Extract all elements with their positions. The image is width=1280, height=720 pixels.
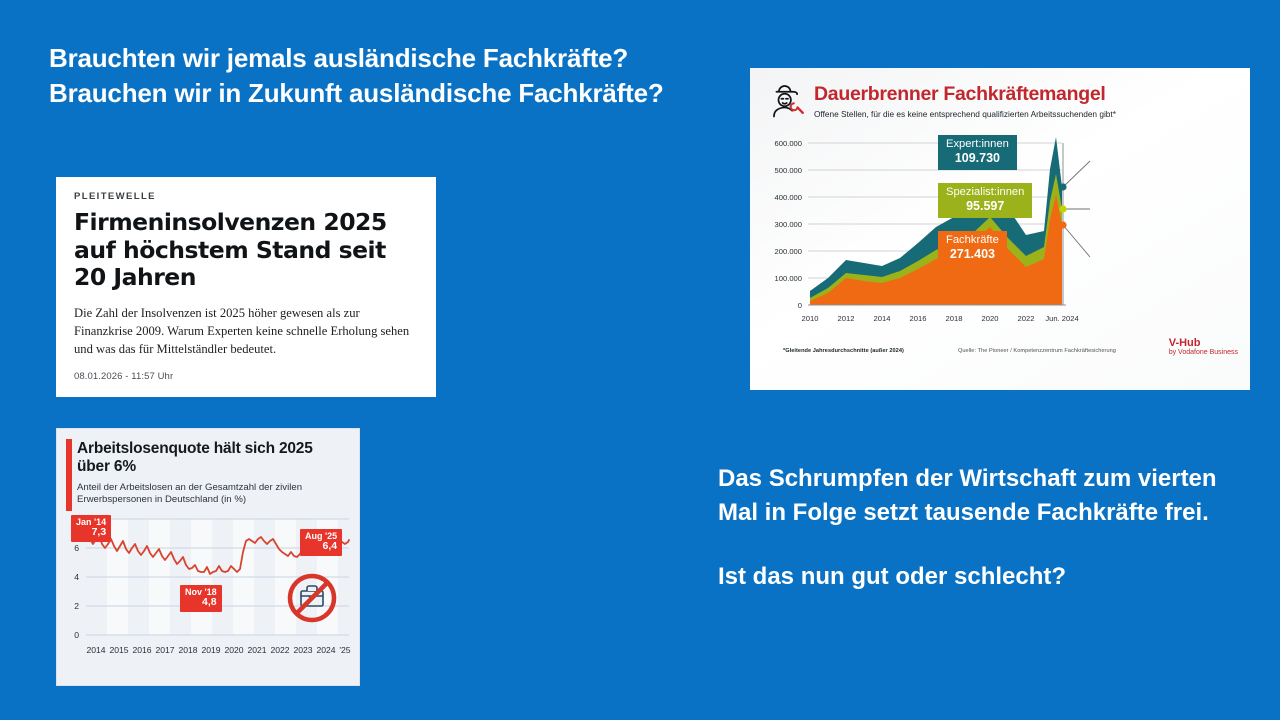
svg-text:200.000: 200.000: [775, 247, 802, 256]
svg-text:2016: 2016: [132, 645, 151, 655]
svg-text:500.000: 500.000: [775, 166, 802, 175]
svg-text:2020: 2020: [982, 314, 999, 323]
accent-bar: [66, 439, 72, 511]
svg-text:600.000: 600.000: [775, 139, 802, 148]
unemployment-card-header: Arbeitslosenquote hält sich 2025 über 6%…: [57, 429, 359, 513]
svg-text:2019: 2019: [201, 645, 220, 655]
svg-text:2014: 2014: [86, 645, 105, 655]
news-timestamp: 08.01.2026 - 11:57 Uhr: [74, 371, 418, 382]
shortage-subtitle: Offene Stellen, für die es keine entspre…: [814, 110, 1116, 120]
marker-expertinnen: [1059, 184, 1066, 191]
slide-body-text: Das Schrumpfen der Wirtschaft zum vierte…: [718, 462, 1238, 594]
callout-label: Fachkräfte: [946, 234, 999, 246]
vhub-logo: V-Hub by Vodafone Business: [1169, 337, 1238, 356]
slide-headline: Brauchten wir jemals ausländische Fachkr…: [49, 41, 749, 110]
body-paragraph-1: Das Schrumpfen der Wirtschaft zum vierte…: [718, 462, 1238, 530]
svg-text:2024: 2024: [316, 645, 335, 655]
news-kicker: PLEITEWELLE: [74, 191, 418, 202]
svg-text:4: 4: [74, 572, 79, 582]
svg-text:2018: 2018: [178, 645, 197, 655]
marker-spezialistinnen: [1059, 206, 1066, 213]
marker-fachkraefte: [1059, 222, 1066, 229]
vhub-logo-tagline: by Vodafone Business: [1169, 349, 1238, 356]
callout-connectors: [1063, 161, 1090, 257]
svg-text:Jun. 2024: Jun. 2024: [1045, 314, 1078, 323]
svg-text:2012: 2012: [838, 314, 855, 323]
svg-text:2021: 2021: [247, 645, 266, 655]
worker-with-wrench-icon: [768, 81, 808, 119]
svg-text:2018: 2018: [946, 314, 963, 323]
annotation-jan-2014: Jan '14 7,3: [71, 515, 111, 542]
annotation-value: 4,8: [185, 597, 217, 609]
svg-text:400.000: 400.000: [775, 193, 802, 202]
svg-text:2: 2: [74, 601, 79, 611]
svg-text:2010: 2010: [802, 314, 819, 323]
y-axis-ticks: 0 100.000 200.000 300.000 400.000 500.00…: [775, 139, 802, 310]
unemployment-title: Arbeitslosenquote hält sich 2025 über 6%: [77, 440, 347, 476]
callout-spezialistinnen: Spezialist:innen 95.597: [938, 183, 1032, 217]
svg-text:6: 6: [74, 543, 79, 553]
svg-text:2022: 2022: [270, 645, 289, 655]
shortage-footnote: *Gleitende Jahresdurchschnitte (außer 20…: [783, 348, 904, 354]
news-article-card: PLEITEWELLE Firmeninsolvenzen 2025 auf h…: [56, 177, 436, 397]
callout-value: 271.403: [946, 247, 999, 261]
svg-text:2020: 2020: [224, 645, 243, 655]
unemployment-chart: 0 2 4 6 8 2014 2015 2016 2017 2018 2019 …: [57, 513, 360, 665]
svg-text:2014: 2014: [874, 314, 891, 323]
shortage-header-text: Dauerbrenner Fachkräftemangel Offene Ste…: [814, 81, 1116, 119]
x-axis-ticks: 2010 2012 2014 2016 2018 2020 2022 Jun. …: [802, 314, 1079, 323]
annotation-nov-2018: Nov '18 4,8: [180, 585, 222, 612]
callout-value: 95.597: [946, 199, 1024, 213]
callout-label: Expert:innen: [946, 138, 1009, 150]
callout-fachkraefte: Fachkräfte 271.403: [938, 231, 1007, 265]
annotation-value: 7,3: [76, 527, 106, 539]
svg-text:2015: 2015: [109, 645, 128, 655]
callout-value: 109.730: [946, 151, 1009, 165]
shortage-chart: 0 100.000 200.000 300.000 400.000 500.00…: [750, 121, 1250, 343]
svg-text:100.000: 100.000: [775, 274, 802, 283]
svg-text:2016: 2016: [910, 314, 927, 323]
shortage-card-footer: *Gleitende Jahresdurchschnitte (außer 20…: [750, 343, 1250, 377]
body-paragraph-2: Ist das nun gut oder schlecht?: [718, 560, 1238, 594]
svg-text:2023: 2023: [293, 645, 312, 655]
headline-line-2: Brauchen wir in Zukunft ausländische Fac…: [49, 76, 749, 111]
svg-text:2017: 2017: [155, 645, 174, 655]
annotation-value: 6,4: [305, 541, 337, 553]
svg-text:0: 0: [74, 630, 79, 640]
callout-label: Spezialist:innen: [946, 186, 1024, 198]
news-headline: Firmeninsolvenzen 2025 auf höchstem Stan…: [74, 209, 418, 292]
slide-root: Brauchten wir jemals ausländische Fachkr…: [0, 0, 1280, 720]
unemployment-rate-card: Arbeitslosenquote hält sich 2025 über 6%…: [56, 428, 360, 686]
unemployment-subtitle: Anteil der Arbeitslosen an der Gesamtzah…: [77, 482, 347, 507]
headline-line-1: Brauchten wir jemals ausländische Fachkr…: [49, 41, 749, 76]
svg-text:0: 0: [798, 301, 802, 310]
annotation-aug-2025: Aug '25 6,4: [300, 529, 342, 556]
news-lede: Die Zahl der Insolvenzen ist 2025 höher …: [74, 305, 418, 359]
vhub-logo-name: V-Hub: [1169, 337, 1238, 349]
svg-text:'25: '25: [339, 645, 350, 655]
x-axis-ticks: 2014 2015 2016 2017 2018 2019 2020 2021 …: [86, 645, 350, 655]
svg-text:300.000: 300.000: [775, 220, 802, 229]
shortage-card-header: Dauerbrenner Fachkräftemangel Offene Ste…: [750, 68, 1250, 119]
svg-text:2022: 2022: [1018, 314, 1035, 323]
callout-expertinnen: Expert:innen 109.730: [938, 135, 1017, 169]
shortage-title: Dauerbrenner Fachkräftemangel: [814, 85, 1116, 105]
skills-shortage-card: Dauerbrenner Fachkräftemangel Offene Ste…: [750, 68, 1250, 390]
shortage-source: Quelle: The Pioneer / Kompetenzzentrum F…: [958, 348, 1116, 354]
